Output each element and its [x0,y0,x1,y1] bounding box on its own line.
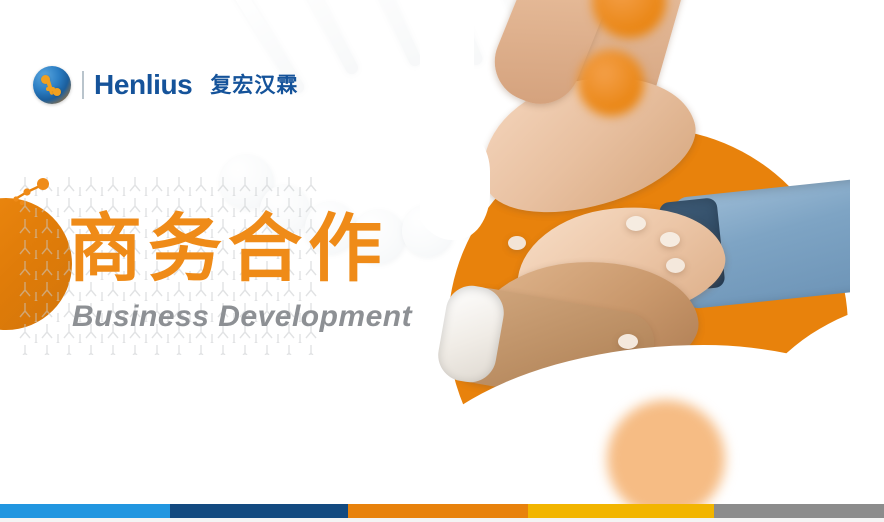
fingernail [618,334,638,349]
fingernail [666,258,685,273]
logo-brand-cn: 复宏汉霖 [210,75,298,96]
molecule-icon [12,176,52,208]
fingernail [660,232,680,247]
presentation-slide: Henlius 复宏汉霖 商务合作 Business Development [0,0,884,522]
segment-gray [714,504,884,518]
logo-divider [82,71,84,99]
footer-strip [0,518,884,522]
left-orange-disc [0,198,72,330]
bottom-pale-orange-circle [607,400,725,518]
segment-light-blue [0,504,170,518]
logo-brand-en: Henlius [94,71,192,99]
henlius-logo-mark-icon [33,66,71,104]
segment-yellow [528,504,714,518]
bottom-color-bar [0,504,884,518]
fingernail [508,236,526,250]
white-right-block [850,0,884,500]
henlius-logo[interactable]: Henlius 复宏汉霖 [33,66,298,104]
orange-dot-upper [578,50,644,116]
white-left-block [420,0,474,190]
page-subtitle: Business Development [72,302,412,332]
page-title: 商务合作 [68,212,388,286]
segment-orange [348,504,528,518]
fingernail [626,216,646,231]
segment-dark-blue [170,504,348,518]
